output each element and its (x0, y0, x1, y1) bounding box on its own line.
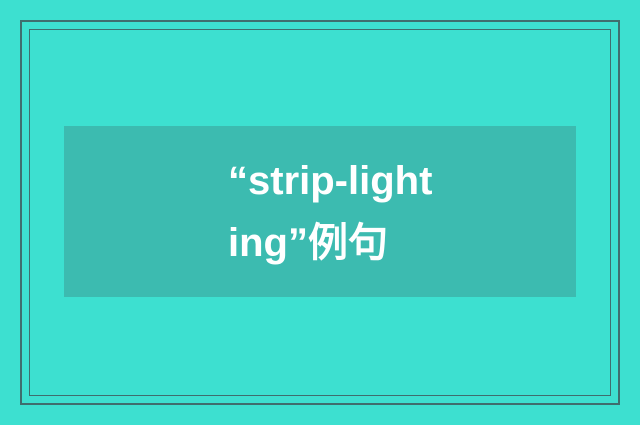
title-banner: “strip-lighting”例句 (64, 126, 576, 297)
page-title: “strip-lighting”例句 (228, 150, 438, 274)
page-canvas: “strip-lighting”例句 (0, 0, 640, 425)
